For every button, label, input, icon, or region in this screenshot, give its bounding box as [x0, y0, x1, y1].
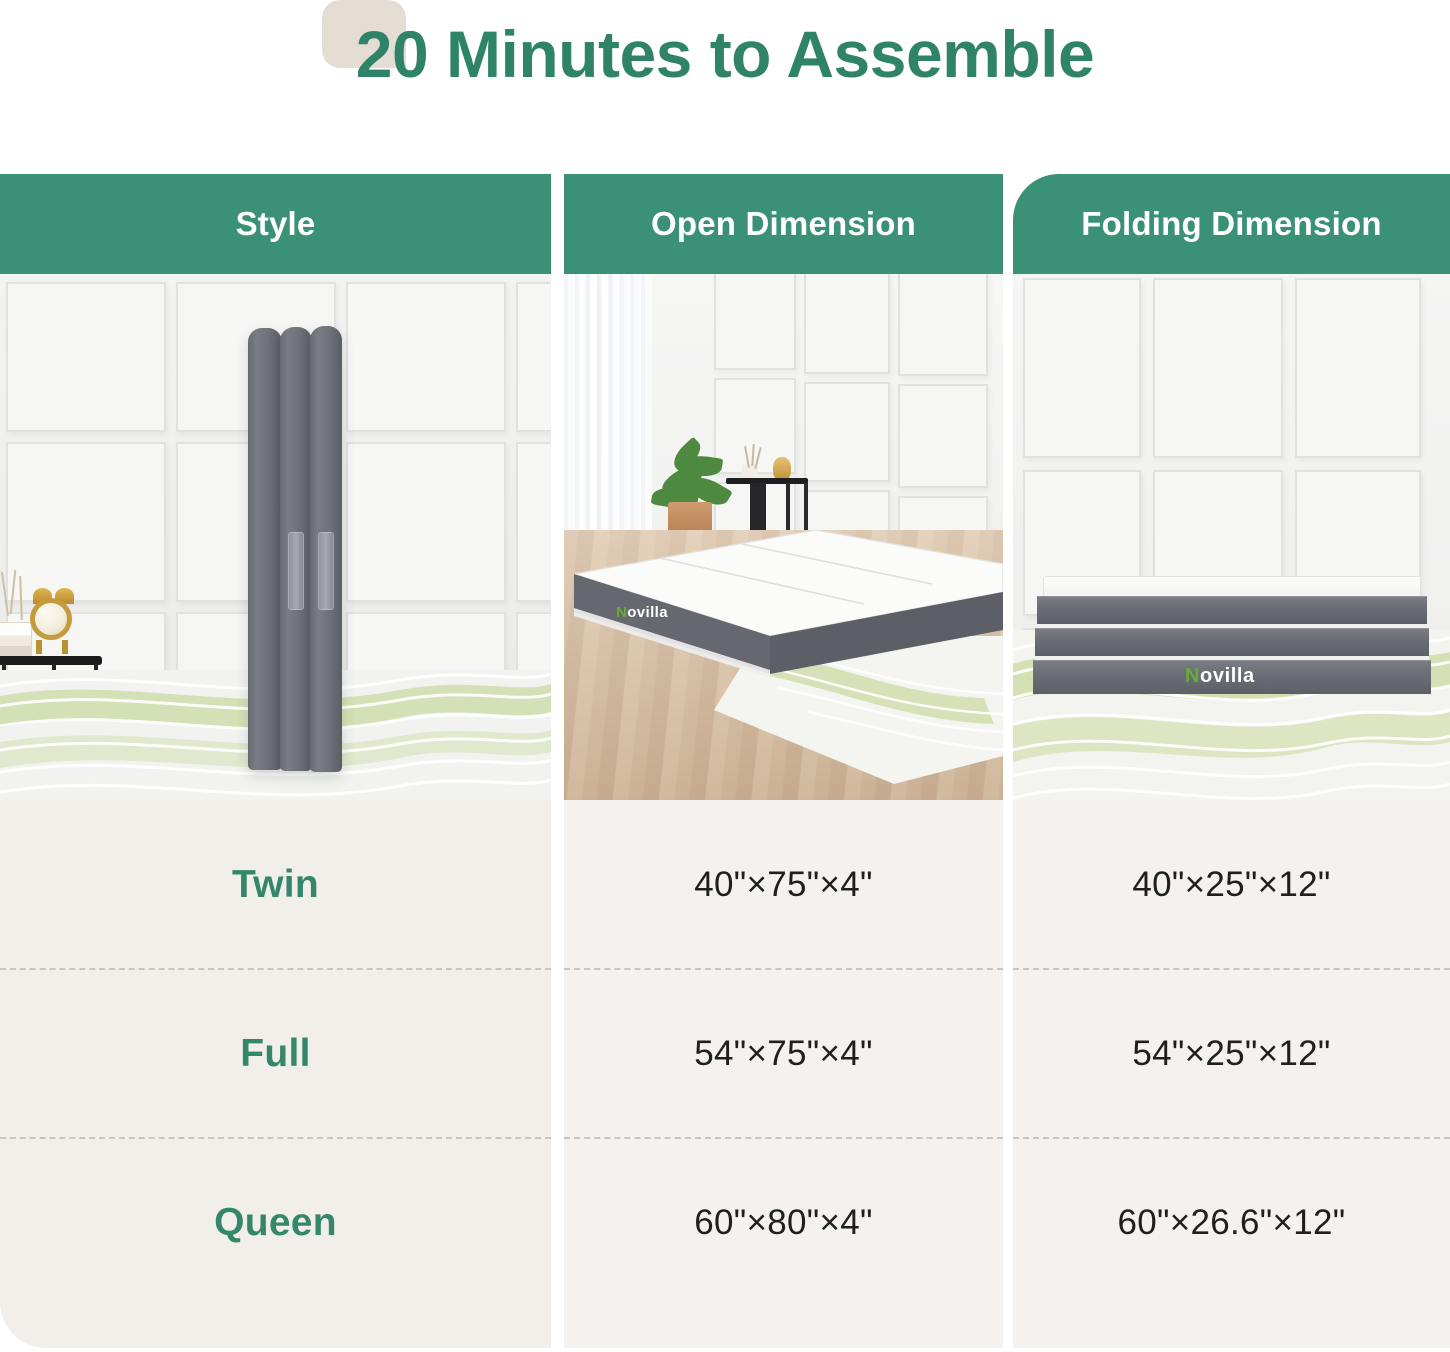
table-row: 40"×25"×12" [1013, 800, 1450, 969]
cell-folding-full: 54"×25"×12" [1132, 1034, 1330, 1074]
column-header-style-label: Style [236, 205, 316, 243]
brand-logo: Novilla [616, 604, 668, 621]
table-row: 60"×26.6"×12" [1013, 1138, 1450, 1307]
column-header-style: Style [0, 174, 551, 274]
books-decor [0, 622, 32, 656]
photo-style-folded-upright [0, 274, 551, 800]
brand-logo: Novilla [1185, 665, 1255, 688]
table-column-open-dimension: Open Dimension [564, 174, 1003, 1348]
table-column-style: Style [0, 174, 551, 1348]
column-header-folding-dimension: Folding Dimension [1013, 174, 1450, 274]
column-header-open-dimension: Open Dimension [564, 174, 1003, 274]
table-row: Twin [0, 800, 551, 969]
table-row: 54"×75"×4" [564, 969, 1003, 1138]
cell-style-queen: Queen [214, 1201, 337, 1245]
cell-style-full: Full [240, 1032, 311, 1076]
cell-folding-queen: 60"×26.6"×12" [1117, 1203, 1345, 1243]
brand-initial: N [1185, 665, 1200, 687]
cell-open-queen: 60"×80"×4" [694, 1203, 872, 1243]
table-row: 40"×75"×4" [564, 800, 1003, 969]
table-row: Full [0, 969, 551, 1138]
brand-initial: N [616, 604, 627, 621]
table-row: Queen [0, 1138, 551, 1307]
table-body-style: Twin Full Queen [0, 800, 551, 1348]
table-row: 60"×80"×4" [564, 1138, 1003, 1307]
table-row: 54"×25"×12" [1013, 969, 1450, 1138]
photo-mattress-unfolded: Novilla [564, 274, 1003, 800]
column-header-open-dimension-label: Open Dimension [651, 205, 916, 243]
table-body-folding-dimension: 40"×25"×12" 54"×25"×12" 60"×26.6"×12" [1013, 800, 1450, 1348]
table-column-folding-dimension: Folding Dimension [1013, 174, 1450, 1348]
table-body-open-dimension: 40"×75"×4" 54"×75"×4" 60"×80"×4" [564, 800, 1003, 1348]
side-table [0, 656, 102, 665]
cell-open-twin: 40"×75"×4" [694, 865, 872, 905]
dimension-comparison-table: Style [0, 174, 1450, 1348]
brand-rest: ovilla [627, 604, 668, 621]
brand-rest: ovilla [1200, 665, 1255, 687]
cell-folding-twin: 40"×25"×12" [1132, 865, 1330, 905]
page-header: 20 Minutes to Assemble [0, 0, 1450, 165]
column-header-folding-dimension-label: Folding Dimension [1081, 205, 1381, 243]
cell-style-twin: Twin [232, 863, 319, 907]
cell-open-full: 54"×75"×4" [694, 1034, 872, 1074]
photo-mattress-folded-stack: Novilla [1013, 274, 1450, 800]
page-title: 20 Minutes to Assemble [0, 8, 1450, 100]
alarm-clock-icon [30, 598, 72, 640]
